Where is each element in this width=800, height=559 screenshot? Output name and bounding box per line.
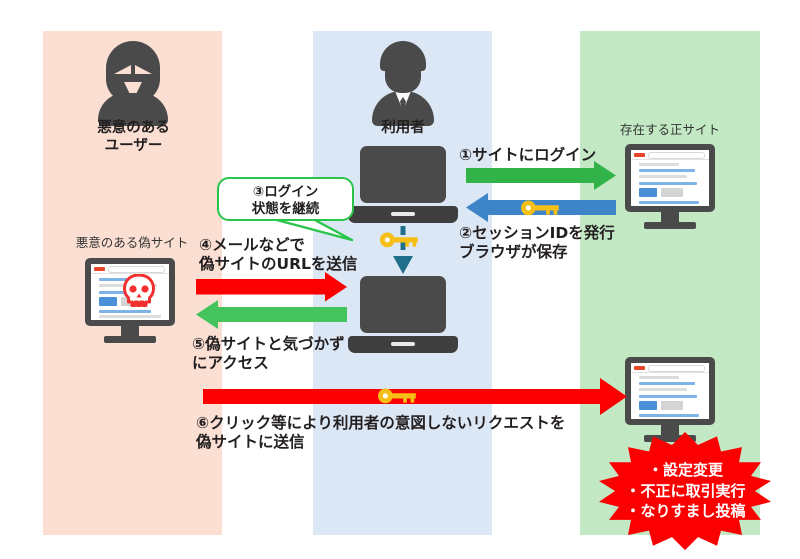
arrow-step-3 [393,226,413,274]
arrow-step-5 [196,300,347,329]
arrow-step-1 [466,161,616,190]
bubble-login-text: ③ログイン 状態を継続 [219,184,352,219]
step-1-label: ①サイトにログイン [459,146,596,165]
step-6-label: ⑥クリック等により利用者の意図しないリクエストを 偽サイトに送信 [196,414,565,452]
consequences-text: ・設定変更 ・不正に取引実行 ・なりすまし投稿 [583,460,788,522]
diagram-canvas: 悪意のある ユーザー 利用者 [0,0,800,559]
arrow-step-4 [196,272,347,302]
step-4-label: ④メールなどで 偽サイトのURLを送信 [199,236,357,274]
bubble-login-state: ③ログイン 状態を継続 [217,177,354,221]
starburst-consequences: ・設定変更 ・不正に取引実行 ・なりすまし投稿 [583,432,788,550]
key-icon-session-kept [380,233,418,248]
step-5-label: ⑤偽サイトと気づかず にアクセス [192,335,345,373]
step-2-label: ②セッションIDを発行 ブラウザが保存 [459,224,615,262]
